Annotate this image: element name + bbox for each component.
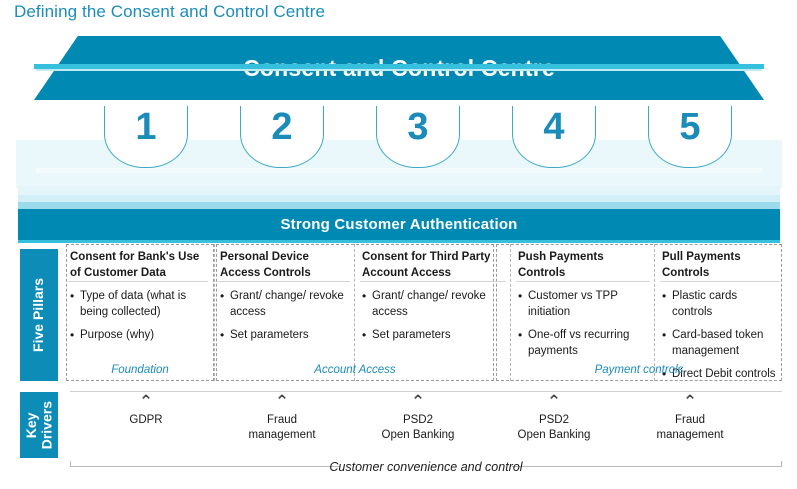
pillar-number: 4 — [543, 108, 564, 146]
key-driver-3: ⌃ PSD2 Open Banking — [353, 396, 483, 443]
column-bullets: Customer vs TPP initiation One-off vs re… — [514, 282, 652, 359]
pillar-5[interactable]: 5 — [648, 106, 732, 168]
pillars-content: Consent for Bank's Use of Customer Data … — [66, 244, 782, 381]
key-driver-label: Fraud management — [217, 413, 347, 443]
column-bullets: Grant/ change/ revoke access Set paramet… — [216, 282, 352, 344]
bullet-item: Purpose (why) — [70, 328, 206, 344]
key-driver-label: PSD2 Open Banking — [489, 413, 619, 443]
bullet-item: Grant/ change/ revoke access — [220, 289, 348, 320]
platform-sheen — [36, 168, 762, 173]
pillar-number: 5 — [679, 108, 700, 146]
pillar-column-3: Consent for Third Party Account Access G… — [358, 244, 508, 381]
key-driver-5: ⌃ Fraud management — [625, 396, 755, 443]
bullet-item: Set parameters — [220, 328, 348, 344]
key-drivers-divider — [70, 391, 782, 392]
chevron-up-icon: ⌃ — [353, 396, 483, 410]
bullet-item: Card-based token management — [662, 328, 778, 359]
platform-layer-mid — [18, 195, 780, 202]
key-driver-label: PSD2 Open Banking — [353, 413, 483, 443]
column-separator — [654, 244, 655, 381]
column-bullets: Type of data (what is being collected) P… — [66, 282, 210, 344]
key-driver-label: GDPR — [81, 413, 211, 428]
pillar-3[interactable]: 3 — [376, 106, 460, 168]
sca-label: Strong Customer Authentication — [280, 216, 517, 233]
roof-edge-shadow — [36, 69, 762, 71]
bullet-item: Grant/ change/ revoke access — [362, 289, 504, 320]
key-driver-1: ⌃ GDPR — [81, 396, 211, 428]
pillar-number: 1 — [135, 108, 156, 146]
platform-layer-top — [18, 186, 780, 195]
strong-customer-authentication-band: Strong Customer Authentication — [18, 209, 780, 240]
group-label-foundation: Foundation — [66, 364, 214, 376]
pillar-number: 3 — [407, 108, 428, 146]
group-label-payment-controls: Payment controls — [496, 364, 782, 376]
bullet-item: Plastic cards controls — [662, 289, 778, 320]
column-separator — [354, 244, 355, 381]
column-header: Personal Device Access Controls — [216, 244, 352, 278]
chevron-up-icon: ⌃ — [81, 396, 211, 410]
sca-underline — [18, 240, 780, 243]
column-header: Pull Payments Controls — [658, 244, 782, 278]
column-separator — [510, 244, 511, 381]
platform-layer-bottom — [18, 202, 780, 209]
key-driver-2: ⌃ Fraud management — [217, 396, 347, 443]
column-separator — [214, 244, 215, 381]
column-header: Push Payments Controls — [514, 244, 652, 278]
bottom-bracket-label: Customer convenience and control — [70, 461, 782, 473]
bullet-item: One-off vs recurring payments — [518, 328, 648, 359]
column-header: Consent for Third Party Account Access — [358, 244, 508, 278]
roof-container: Consent and Control Centre — [0, 36, 797, 106]
column-header: Consent for Bank's Use of Customer Data — [66, 244, 210, 278]
side-label-five-pillars-text: Five Pillars — [31, 278, 46, 352]
side-label-key-drivers: Key Drivers — [20, 392, 58, 458]
group-label-account-access: Account Access — [216, 364, 494, 376]
side-label-five-pillars: Five Pillars — [20, 249, 58, 381]
bullet-item: Set parameters — [362, 328, 504, 344]
column-bullets: Grant/ change/ revoke access Set paramet… — [358, 282, 508, 344]
pillar-column-1: Consent for Bank's Use of Customer Data … — [66, 244, 210, 381]
pillar-4[interactable]: 4 — [512, 106, 596, 168]
bullet-item: Type of data (what is being collected) — [70, 289, 206, 320]
chevron-up-icon: ⌃ — [489, 396, 619, 410]
key-driver-label: Fraud management — [625, 413, 755, 443]
pillar-column-2: Personal Device Access Controls Grant/ c… — [216, 244, 352, 381]
pillar-column-5: Pull Payments Controls Plastic cards con… — [658, 244, 782, 381]
side-label-key-drivers-text: Key Drivers — [24, 401, 55, 449]
page-title: Defining the Consent and Control Centre — [14, 2, 325, 22]
chevron-up-icon: ⌃ — [625, 396, 755, 410]
pillar-column-4: Push Payments Controls Customer vs TPP i… — [514, 244, 652, 381]
bullet-item: Customer vs TPP initiation — [518, 289, 648, 320]
key-driver-4: ⌃ PSD2 Open Banking — [489, 396, 619, 443]
pillar-number: 2 — [271, 108, 292, 146]
bottom-bracket: Customer convenience and control — [70, 461, 782, 473]
pillar-2[interactable]: 2 — [240, 106, 324, 168]
pillar-1[interactable]: 1 — [104, 106, 188, 168]
chevron-up-icon: ⌃ — [217, 396, 347, 410]
